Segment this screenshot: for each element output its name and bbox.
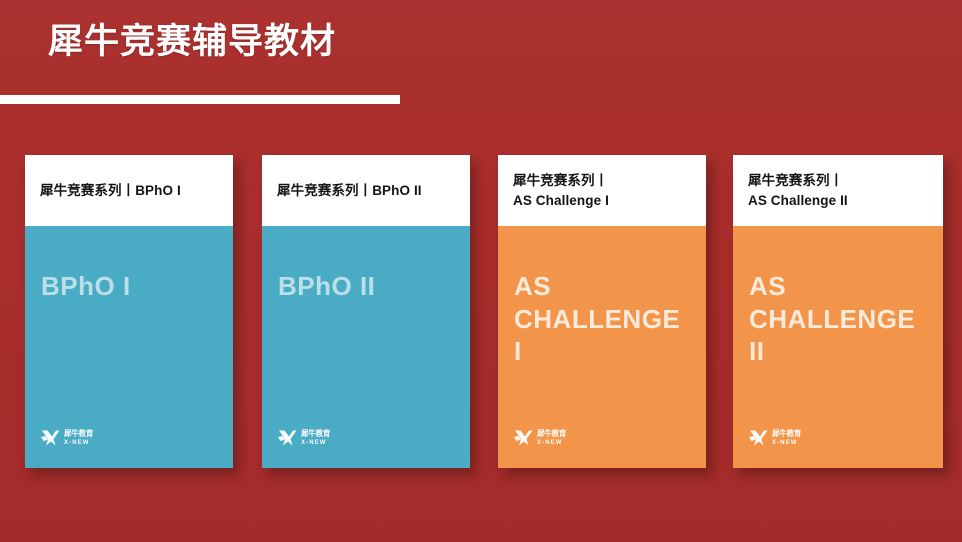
book-card-as-challenge-1[interactable]: 犀牛竞赛系列丨 AS Challenge I AS CHALLENGE I 犀牛…	[498, 155, 706, 468]
book-card-cover-title: AS CHALLENGE I	[514, 270, 690, 368]
rhino-x-logo-icon	[749, 430, 768, 446]
book-card-bpho-2[interactable]: 犀牛竞赛系列丨BPhO II BPhO II 犀牛教育 X-NEW	[262, 155, 470, 468]
rhino-x-logo-icon	[41, 430, 60, 446]
book-card-cover: AS CHALLENGE I 犀牛教育 X-NEW	[498, 226, 706, 468]
brand-logo: 犀牛教育 X-NEW	[514, 430, 566, 446]
brand-logo-en: X-NEW	[772, 440, 801, 446]
book-card-cover-title: BPhO I	[41, 270, 217, 303]
brand-logo-cn: 犀牛教育	[772, 430, 801, 438]
book-card-header-text: 犀牛竞赛系列丨 AS Challenge II	[748, 171, 848, 209]
book-card-cover: BPhO I 犀牛教育 X-NEW	[25, 226, 233, 468]
book-card-header: 犀牛竞赛系列丨BPhO II	[262, 155, 470, 226]
brand-logo-cn: 犀牛教育	[301, 430, 330, 438]
brand-logo-words: 犀牛教育 X-NEW	[301, 430, 330, 446]
brand-logo-words: 犀牛教育 X-NEW	[64, 430, 93, 446]
book-card-bpho-1[interactable]: 犀牛竞赛系列丨BPhO I BPhO I 犀牛教育 X-NEW	[25, 155, 233, 468]
brand-logo: 犀牛教育 X-NEW	[41, 430, 93, 446]
book-card-header-text: 犀牛竞赛系列丨 AS Challenge I	[513, 171, 609, 209]
brand-logo-words: 犀牛教育 X-NEW	[772, 430, 801, 446]
book-card-header-text: 犀牛竞赛系列丨BPhO I	[40, 181, 181, 200]
book-card-header: 犀牛竞赛系列丨 AS Challenge I	[498, 155, 706, 226]
title-underline-rule	[0, 95, 400, 104]
book-card-cover: BPhO II 犀牛教育 X-NEW	[262, 226, 470, 468]
brand-logo-en: X-NEW	[537, 440, 566, 446]
page-title: 犀牛竞赛辅导教材	[0, 22, 420, 62]
brand-logo-cn: 犀牛教育	[64, 430, 93, 438]
book-card-row: 犀牛竞赛系列丨BPhO I BPhO I 犀牛教育 X-NEW	[25, 155, 943, 468]
slide-canvas: 犀牛竞赛辅导教材 犀牛竞赛系列丨BPhO I BPhO I 犀牛教育 X-NEW	[0, 0, 962, 542]
book-card-header: 犀牛竞赛系列丨BPhO I	[25, 155, 233, 226]
book-card-cover: AS CHALLENGE II 犀牛教育 X-NEW	[733, 226, 943, 468]
book-card-header-text: 犀牛竞赛系列丨BPhO II	[277, 181, 422, 200]
book-card-as-challenge-2[interactable]: 犀牛竞赛系列丨 AS Challenge II AS CHALLENGE II …	[733, 155, 943, 468]
brand-logo-cn: 犀牛教育	[537, 430, 566, 438]
book-card-cover-title: BPhO II	[278, 270, 454, 303]
brand-logo-en: X-NEW	[301, 440, 330, 446]
brand-logo-words: 犀牛教育 X-NEW	[537, 430, 566, 446]
rhino-x-logo-icon	[278, 430, 297, 446]
book-card-header: 犀牛竞赛系列丨 AS Challenge II	[733, 155, 943, 226]
brand-logo-en: X-NEW	[64, 440, 93, 446]
rhino-x-logo-icon	[514, 430, 533, 446]
brand-logo: 犀牛教育 X-NEW	[278, 430, 330, 446]
book-card-cover-title: AS CHALLENGE II	[749, 270, 927, 368]
brand-logo: 犀牛教育 X-NEW	[749, 430, 801, 446]
title-block: 犀牛竞赛辅导教材	[0, 22, 420, 62]
